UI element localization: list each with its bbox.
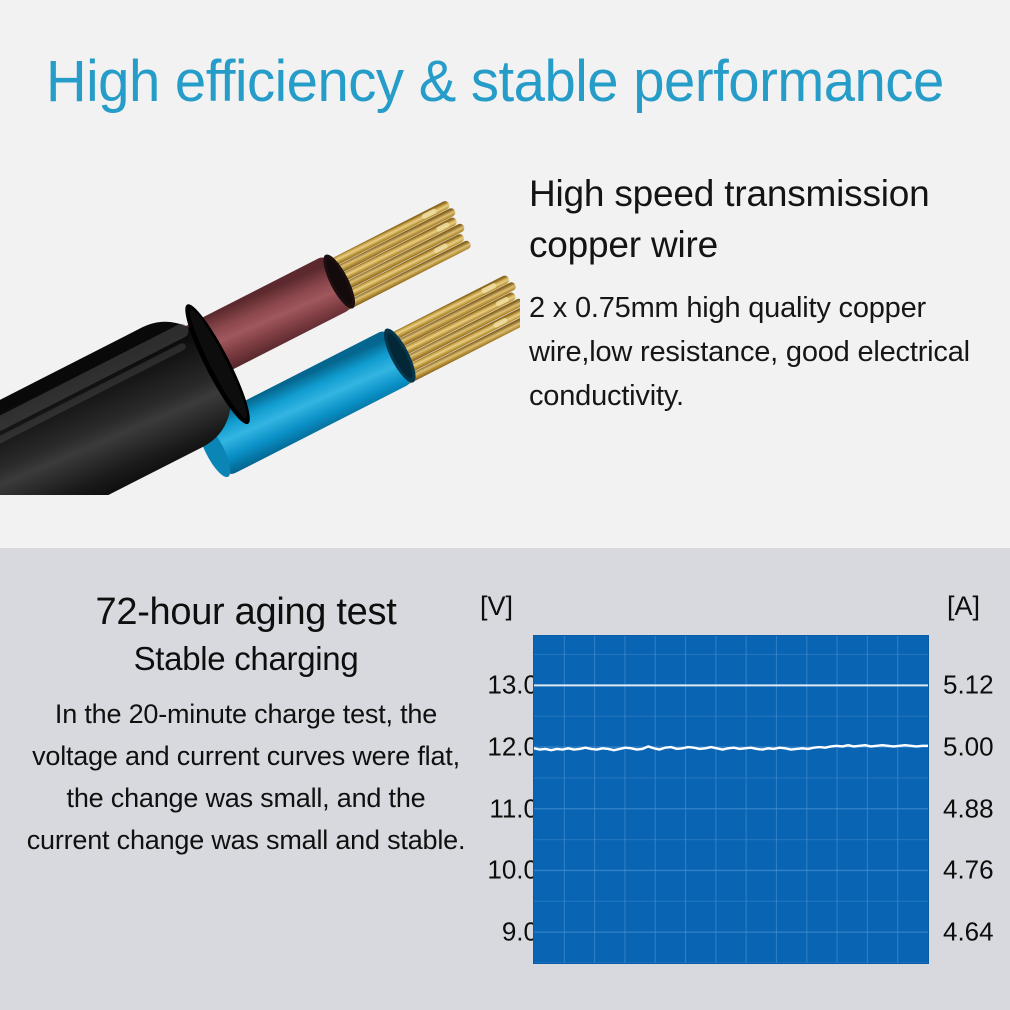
aging-test-subtitle: Stable charging — [26, 637, 466, 681]
feature-text-block: High speed transmission copper wire 2 x … — [529, 168, 999, 418]
right-tick-4.76: 4.76 — [943, 855, 994, 886]
feature-body: 2 x 0.75mm high quality copper wire,low … — [529, 286, 999, 418]
right-tick-4.64: 4.64 — [943, 917, 994, 948]
left-tick-12.0: 12.0 — [487, 732, 538, 763]
left-tick-13.0: 13.0 — [487, 670, 538, 701]
right-tick-4.88: 4.88 — [943, 793, 994, 824]
left-axis-unit-label: [V] — [480, 591, 513, 622]
left-tick-11.0: 11.0 — [489, 793, 538, 824]
right-tick-5.00: 5.00 — [943, 732, 994, 763]
feature-heading: High speed transmission copper wire — [529, 168, 999, 270]
top-panel: High efficiency & stable performance — [0, 0, 1010, 548]
cable-photo — [0, 165, 520, 495]
bottom-panel: 72-hour aging test Stable charging In th… — [0, 548, 1010, 1010]
right-tick-5.12: 5.12 — [943, 670, 994, 701]
charge-test-chart: [V] [A] 13.012.011.010.09.0 5.125.004.88… — [460, 583, 1010, 993]
aging-test-title: 72-hour aging test — [26, 588, 466, 637]
aging-test-text-block: 72-hour aging test Stable charging In th… — [26, 588, 466, 861]
page-title: High efficiency & stable performance — [46, 50, 958, 114]
left-tick-10.0: 10.0 — [487, 855, 538, 886]
right-axis-unit-label: [A] — [947, 591, 980, 622]
left-tick-9.0: 9.0 — [502, 917, 538, 948]
chart-plot-area — [534, 636, 928, 963]
product-feature-graphic: High efficiency & stable performance — [0, 0, 1010, 1010]
horizontal-gridlines — [534, 655, 928, 963]
aging-test-body: In the 20-minute charge test, the voltag… — [26, 693, 466, 861]
